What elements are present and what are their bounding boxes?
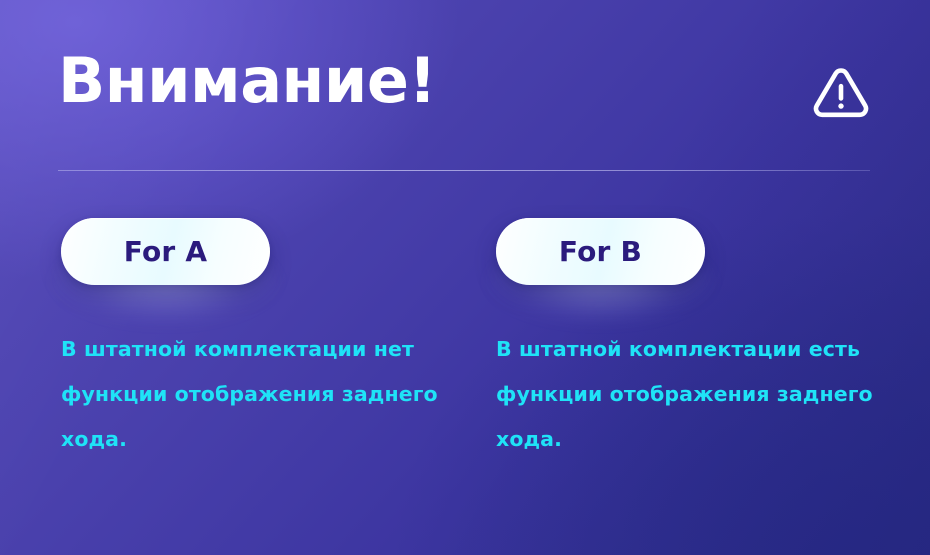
column-for-a: For A В штатной комплектации нет функции… <box>61 218 461 462</box>
pill-button-for-b[interactable]: For B <box>496 218 705 285</box>
column-for-b: For B В штатной комплектации есть функци… <box>496 218 896 462</box>
warning-slide: Внимание! For A В штатной комплектации н… <box>0 0 930 555</box>
pill-label-for-b: For B <box>559 235 642 268</box>
pill-button-for-a[interactable]: For A <box>61 218 270 285</box>
column-description-b: В штатной комплектации есть функции отоб… <box>496 285 884 462</box>
pill-wrapper-a: For A <box>61 218 270 285</box>
column-description-a: В штатной комплектации нет функции отобр… <box>61 285 443 462</box>
pill-label-for-a: For A <box>124 235 207 268</box>
pill-wrapper-b: For B <box>496 218 705 285</box>
slide-header: Внимание! <box>58 52 874 140</box>
header-divider <box>58 170 870 171</box>
warning-triangle-icon <box>808 60 874 126</box>
page-title: Внимание! <box>58 50 436 112</box>
